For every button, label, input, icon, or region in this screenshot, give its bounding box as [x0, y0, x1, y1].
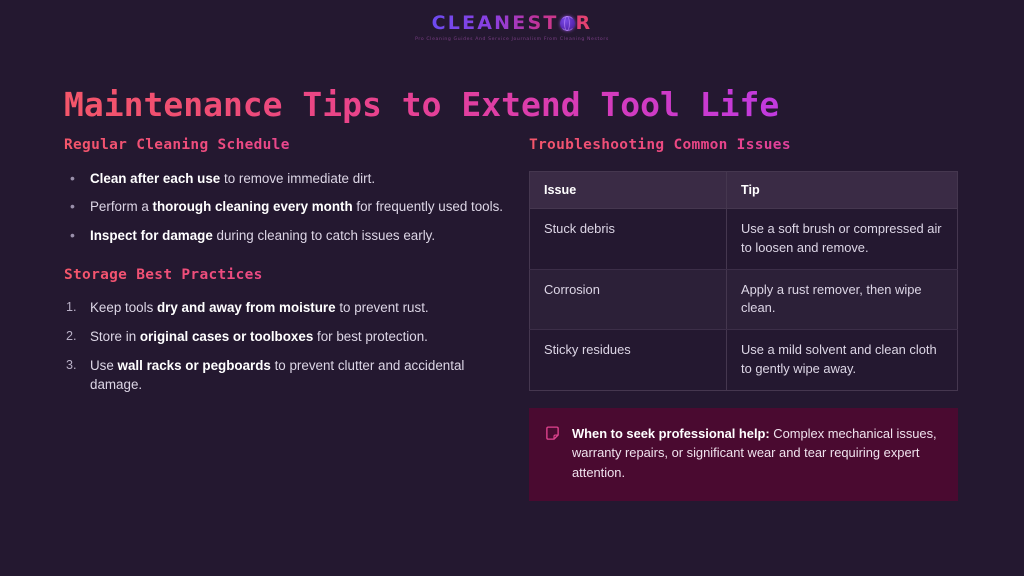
cell-tip: Use a soft brush or compressed air to lo… — [727, 208, 958, 269]
section-heading-cleaning: Regular Cleaning Schedule — [64, 136, 504, 155]
left-column: Regular Cleaning Schedule Clean after ea… — [64, 136, 504, 404]
troubleshooting-table: Issue Tip Stuck debris Use a soft brush … — [529, 171, 958, 391]
cell-tip: Apply a rust remover, then wipe clean. — [727, 269, 958, 330]
item-bold: Clean after each use — [90, 171, 220, 186]
table-header-row: Issue Tip — [530, 171, 958, 208]
item-rest: to prevent rust. — [336, 300, 429, 315]
section-heading-troubleshooting: Troubleshooting Common Issues — [529, 136, 958, 155]
page-title: Maintenance Tips to Extend Tool Life — [64, 84, 779, 125]
column-header-issue: Issue — [530, 171, 727, 208]
column-header-tip: Tip — [727, 171, 958, 208]
list-item: Store in original cases or toolboxes for… — [64, 327, 504, 347]
cleaning-schedule-list: Clean after each use to remove immediate… — [64, 169, 504, 246]
item-rest: for frequently used tools. — [353, 199, 503, 214]
item-lead: Perform a — [90, 199, 153, 214]
item-lead: Store in — [90, 329, 140, 344]
item-bold: Inspect for damage — [90, 228, 213, 243]
table-row: Stuck debris Use a soft brush or compres… — [530, 208, 958, 269]
professional-help-callout: When to seek professional help: Complex … — [529, 408, 958, 501]
item-bold: wall racks or pegboards — [118, 358, 271, 373]
site-logo: CLEANESTR Pro Cleaning Guides And Servic… — [0, 14, 1024, 42]
brand-tagline: Pro Cleaning Guides And Service Journali… — [0, 37, 1024, 42]
list-item: Perform a thorough cleaning every month … — [64, 197, 504, 217]
right-column: Troubleshooting Common Issues Issue Tip … — [529, 136, 958, 501]
item-bold: original cases or toolboxes — [140, 329, 313, 344]
item-lead: Use — [90, 358, 118, 373]
list-item: Keep tools dry and away from moisture to… — [64, 298, 504, 318]
item-bold: thorough cleaning every month — [153, 199, 353, 214]
note-icon — [545, 426, 560, 446]
globe-icon — [560, 16, 575, 31]
table-row: Corrosion Apply a rust remover, then wip… — [530, 269, 958, 330]
cell-issue: Stuck debris — [530, 208, 727, 269]
item-lead: Keep tools — [90, 300, 157, 315]
brand-name-part1: CLEANEST — [432, 12, 559, 34]
item-rest: for best protection. — [313, 329, 428, 344]
table-row: Sticky residues Use a mild solvent and c… — [530, 330, 958, 391]
item-rest: during cleaning to catch issues early. — [213, 228, 435, 243]
cell-issue: Sticky residues — [530, 330, 727, 391]
cell-issue: Corrosion — [530, 269, 727, 330]
brand-name-part2: R — [576, 12, 593, 34]
cell-tip: Use a mild solvent and clean cloth to ge… — [727, 330, 958, 391]
item-rest: to remove immediate dirt. — [220, 171, 375, 186]
storage-practices-list: Keep tools dry and away from moisture to… — [64, 298, 504, 394]
list-item: Inspect for damage during cleaning to ca… — [64, 226, 504, 246]
brand-wordmark: CLEANESTR — [432, 14, 593, 33]
callout-bold: When to seek professional help: — [572, 426, 770, 441]
callout-text: When to seek professional help: Complex … — [572, 424, 940, 483]
list-item: Clean after each use to remove immediate… — [64, 169, 504, 189]
list-item: Use wall racks or pegboards to prevent c… — [64, 356, 504, 395]
section-heading-storage: Storage Best Practices — [64, 266, 504, 285]
item-bold: dry and away from moisture — [157, 300, 336, 315]
